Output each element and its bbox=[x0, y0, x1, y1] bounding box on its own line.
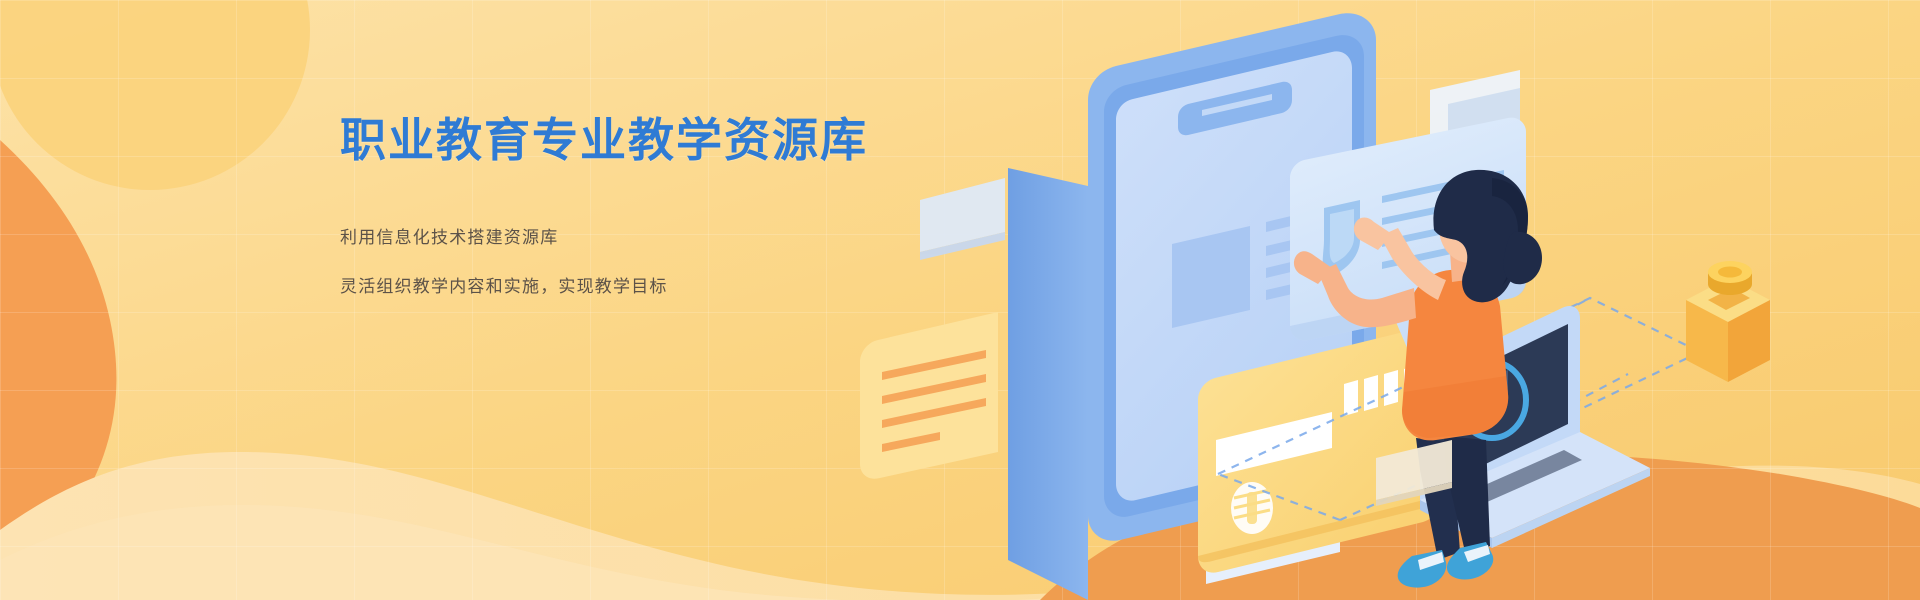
shoe-icon-back bbox=[1398, 550, 1447, 588]
coin-box-illustration bbox=[1686, 261, 1770, 382]
banner-subtitle-2: 灵活组织教学内容和实施，实现教学目标 bbox=[340, 273, 980, 300]
document-card-yellow bbox=[860, 312, 998, 479]
coin-icon bbox=[1708, 261, 1752, 295]
banner-text-block: 职业教育专业教学资源库 利用信息化技术搭建资源库 灵活组织教学内容和实施，实现教… bbox=[340, 112, 980, 300]
card-chip-icon bbox=[1231, 482, 1273, 534]
hero-banner: 职业教育专业教学资源库 利用信息化技术搭建资源库 灵活组织教学内容和实施，实现教… bbox=[0, 0, 1920, 600]
hero-illustration bbox=[820, 0, 1920, 600]
banner-subtitle-1: 利用信息化技术搭建资源库 bbox=[340, 224, 980, 251]
page-title: 职业教育专业教学资源库 bbox=[340, 112, 980, 170]
